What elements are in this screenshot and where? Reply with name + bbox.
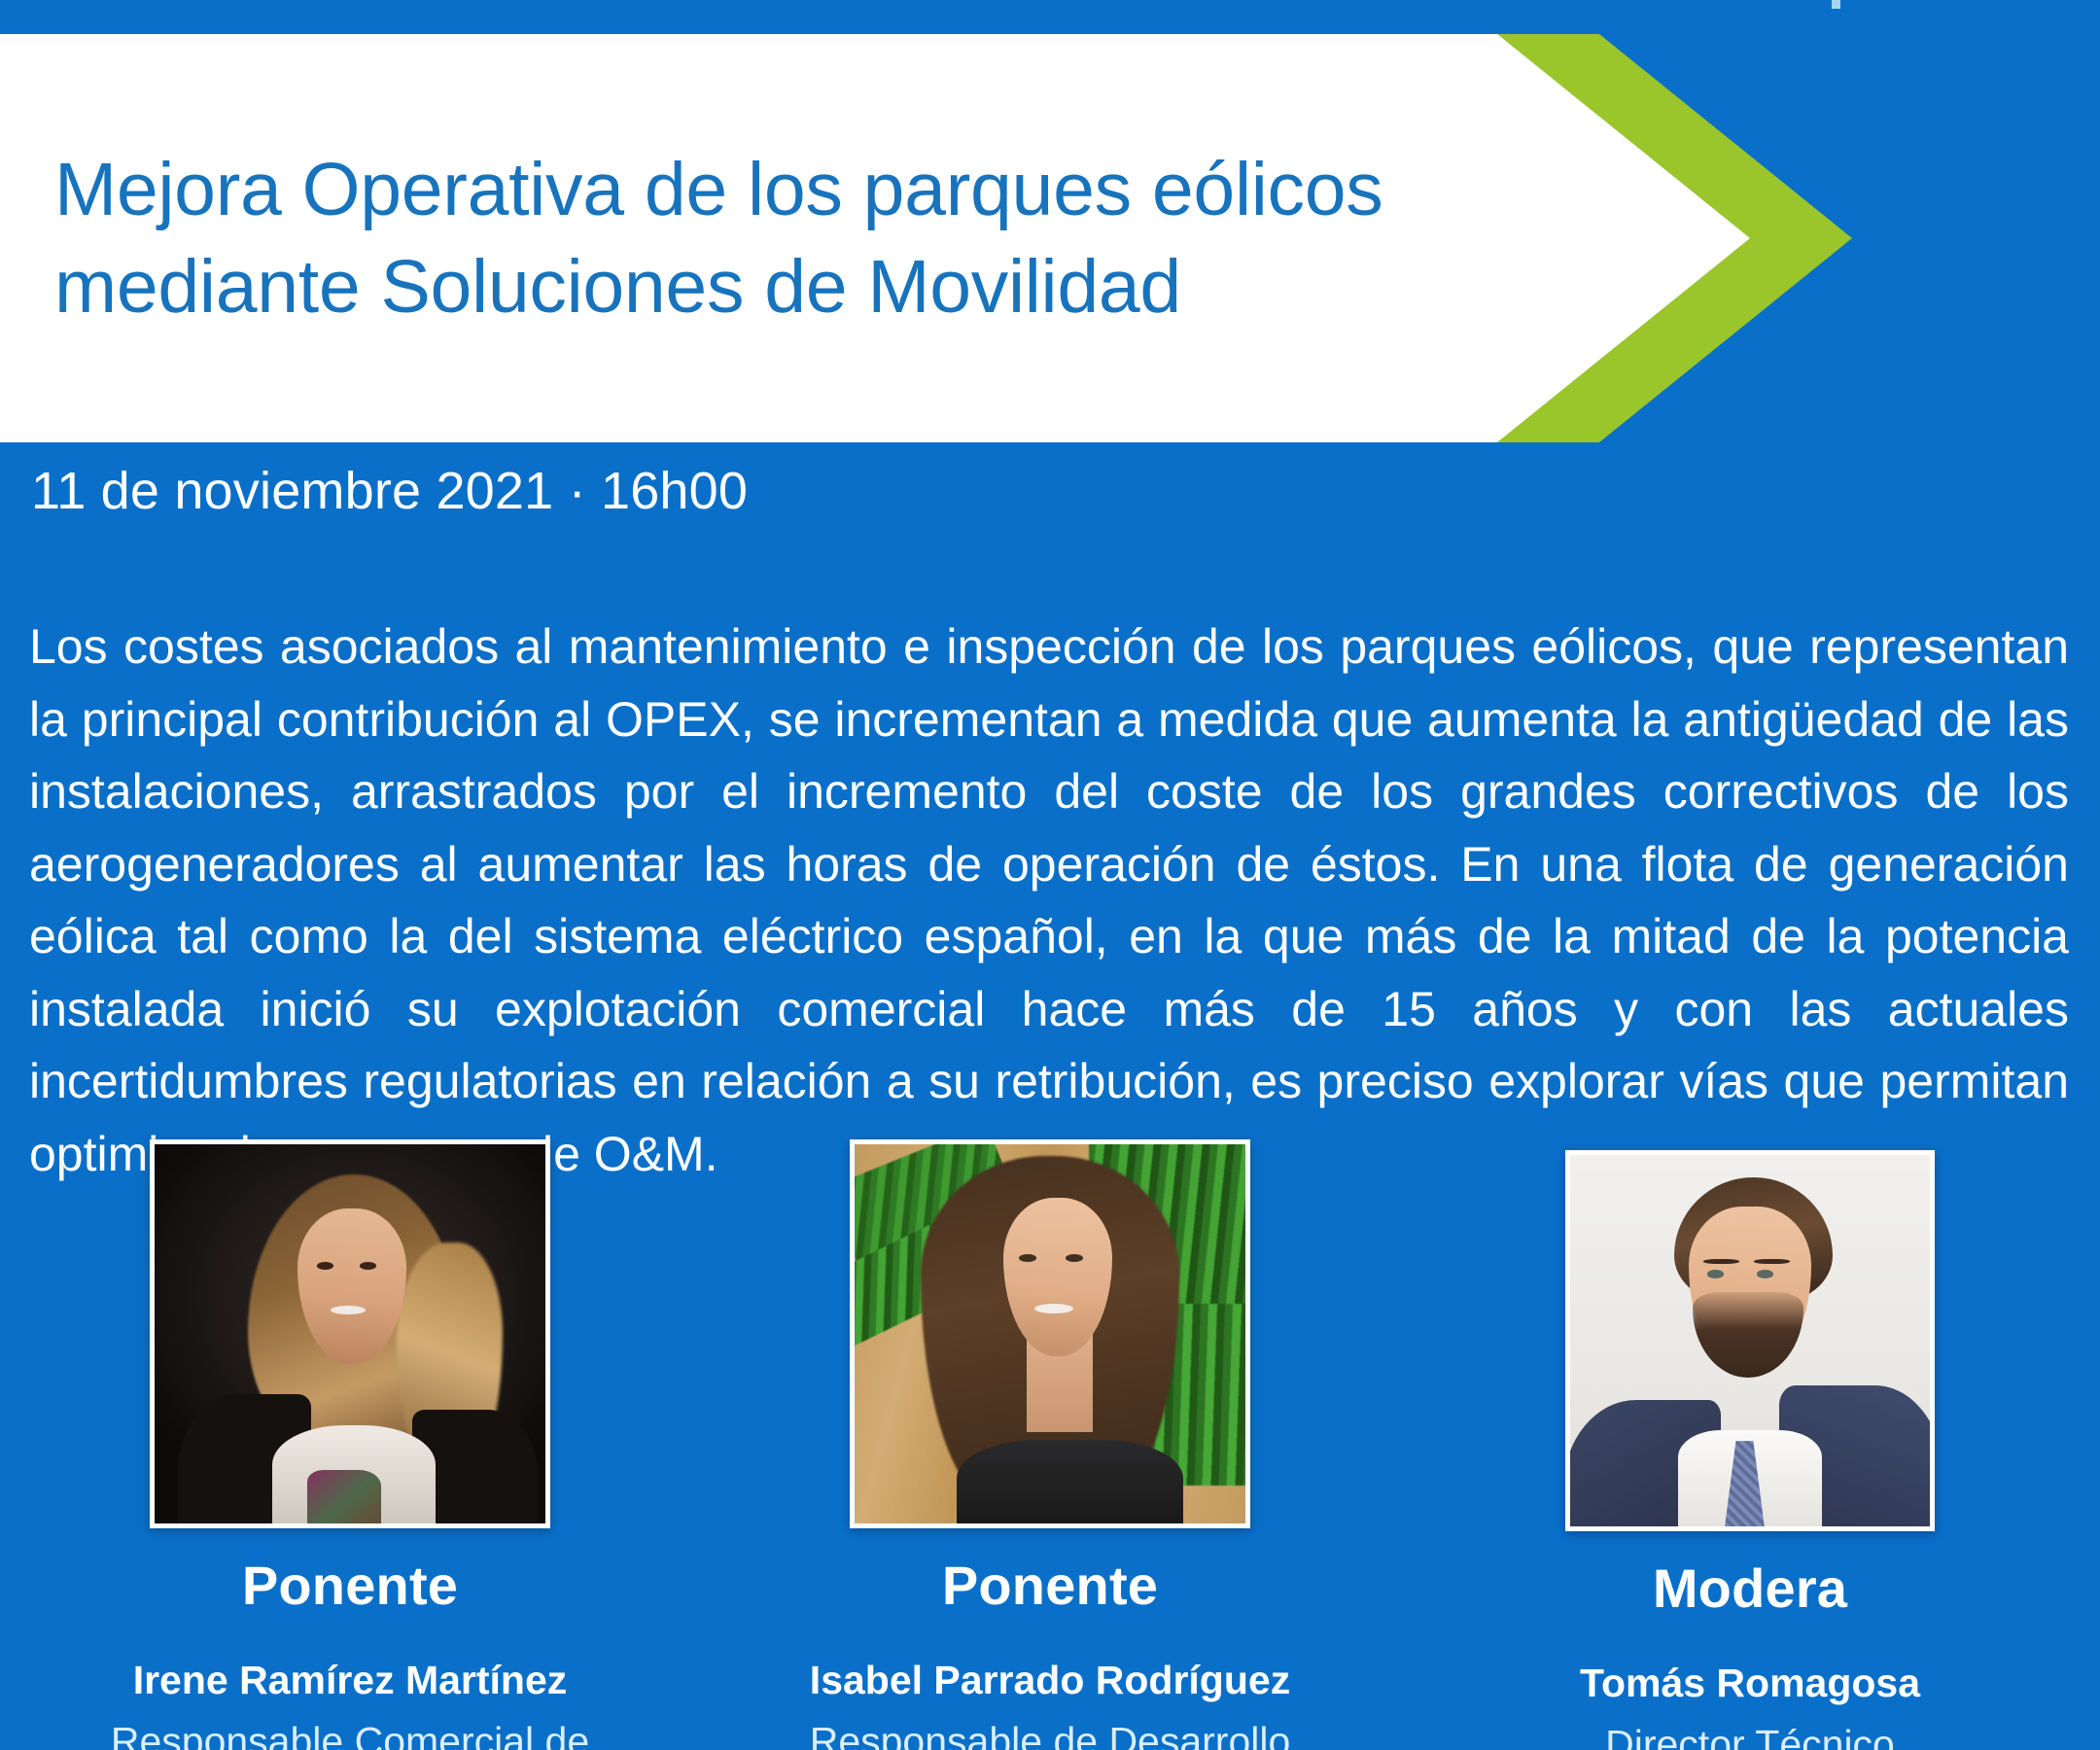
clipped-text-fragment	[1832, 0, 1840, 9]
speaker-card-3: Modera Tomás Romagosa Director Técnico	[1400, 1139, 2100, 1750]
speaker-card-2: Ponente Isabel Parrado Rodríguez Respons…	[700, 1139, 1400, 1750]
shirt-print-shape	[307, 1470, 381, 1523]
eye-left-shape	[1019, 1254, 1036, 1262]
speaker-position-3: Director Técnico	[1605, 1720, 1895, 1750]
page-title: Mejora Operativa de los parques eólicos …	[54, 34, 1649, 442]
speaker-role-title-2: Ponente	[942, 1554, 1158, 1617]
speaker-photo-2	[850, 1139, 1250, 1528]
speaker-name-2: Isabel Parrado Rodríguez	[810, 1658, 1290, 1703]
eye-right-shape	[1757, 1270, 1773, 1277]
mouth-shape	[1034, 1304, 1073, 1313]
event-datetime: 11 de noviembre 2021 · 16h00	[31, 461, 748, 521]
speaker-role-title-1: Ponente	[242, 1554, 458, 1617]
speaker-card-1: Ponente Irene Ramírez Martínez Responsab…	[0, 1139, 700, 1750]
speakers-row: Ponente Irene Ramírez Martínez Responsab…	[0, 1139, 2100, 1750]
eye-right-shape	[1066, 1254, 1083, 1262]
eyebrow-right-shape	[1754, 1259, 1790, 1264]
webinar-poster: Mejora Operativa de los parques eólicos …	[0, 0, 2100, 1750]
speaker-name-3: Tomás Romagosa	[1580, 1661, 1920, 1706]
speaker-photo-3	[1565, 1150, 1935, 1531]
eye-right-shape	[360, 1262, 376, 1270]
speaker-photo-1	[150, 1139, 550, 1528]
speaker-position-1: Responsable Comercial de	[111, 1717, 589, 1750]
mouth-shape	[331, 1306, 366, 1314]
event-description: Los costes asociados al mantenimiento e …	[29, 611, 2069, 1190]
speaker-position-2: Responsable de Desarrollo	[810, 1717, 1291, 1750]
top-garment-shape	[957, 1440, 1183, 1523]
speaker-role-title-3: Modera	[1653, 1557, 1847, 1620]
speaker-name-1: Irene Ramírez Martínez	[133, 1658, 568, 1703]
title-banner: Mejora Operativa de los parques eólicos …	[0, 34, 1852, 442]
eye-left-shape	[317, 1262, 333, 1270]
eye-left-shape	[1707, 1270, 1724, 1277]
eyebrow-left-shape	[1703, 1259, 1739, 1264]
